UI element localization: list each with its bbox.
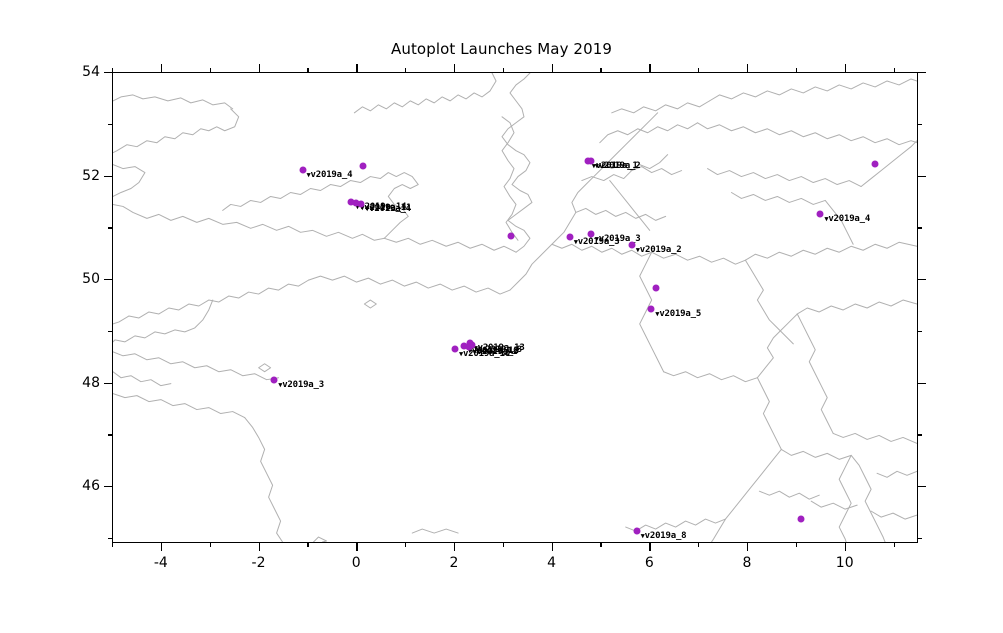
y-tick-major bbox=[918, 279, 926, 280]
data-point[interactable] bbox=[299, 167, 306, 174]
label-marker-icon: ▼ bbox=[365, 205, 369, 213]
x-tick-label: 10 bbox=[836, 555, 854, 571]
y-tick-major bbox=[104, 72, 112, 73]
x-tick-major bbox=[845, 543, 846, 551]
y-tick-major bbox=[918, 383, 926, 384]
chart-title: Autoplot Launches May 2019 bbox=[0, 40, 1003, 58]
x-tick-label: 8 bbox=[743, 555, 752, 571]
x-tick-major bbox=[161, 543, 162, 551]
data-point-label: ▼v2019a_2 bbox=[636, 245, 682, 255]
y-tick-label: 54 bbox=[56, 64, 100, 80]
data-point[interactable] bbox=[451, 346, 458, 353]
y-tick-minor bbox=[918, 434, 922, 435]
x-tick-minor bbox=[503, 68, 504, 72]
y-tick-major bbox=[918, 486, 926, 487]
y-tick-label: 46 bbox=[56, 478, 100, 494]
y-tick-major bbox=[104, 279, 112, 280]
x-tick-minor bbox=[600, 68, 601, 72]
x-tick-major bbox=[649, 64, 650, 72]
x-tick-label: 4 bbox=[547, 555, 556, 571]
x-tick-minor bbox=[894, 543, 895, 547]
y-tick-major bbox=[104, 486, 112, 487]
label-marker-icon: ▼ bbox=[595, 235, 599, 243]
x-tick-minor bbox=[405, 543, 406, 547]
x-tick-minor bbox=[698, 68, 699, 72]
label-marker-icon: ▼ bbox=[459, 350, 463, 358]
y-tick-label: 50 bbox=[56, 271, 100, 287]
data-point-label: ▼v2019a_4 bbox=[824, 214, 870, 224]
data-point[interactable] bbox=[797, 516, 804, 523]
x-tick-minor bbox=[698, 543, 699, 547]
x-tick-label: 2 bbox=[449, 555, 458, 571]
x-tick-minor bbox=[796, 68, 797, 72]
data-point[interactable] bbox=[271, 376, 278, 383]
y-tick-major bbox=[104, 176, 112, 177]
y-tick-label: 48 bbox=[56, 375, 100, 391]
x-tick-major bbox=[845, 64, 846, 72]
label-marker-icon: ▼ bbox=[655, 310, 659, 318]
data-point[interactable] bbox=[653, 284, 660, 291]
data-point-label: ▼v2019a_8 bbox=[641, 531, 687, 541]
x-tick-minor bbox=[405, 68, 406, 72]
data-point[interactable] bbox=[587, 157, 594, 164]
x-tick-label: -2 bbox=[252, 555, 266, 571]
data-point[interactable] bbox=[648, 305, 655, 312]
x-tick-minor bbox=[307, 543, 308, 547]
y-tick-minor bbox=[108, 331, 112, 332]
data-point-label: ▼v2019a_5 bbox=[655, 309, 701, 319]
label-marker-icon: ▼ bbox=[824, 215, 828, 223]
x-tick-major bbox=[649, 543, 650, 551]
data-point-label: ▼v2019a_4 bbox=[307, 170, 353, 180]
y-tick-minor bbox=[108, 538, 112, 539]
x-tick-label: 0 bbox=[352, 555, 361, 571]
data-points-layer: ▼v2019a_4▼v2019a_14▼v2019a_11▼v2019a_4▼v… bbox=[113, 73, 917, 542]
data-point[interactable] bbox=[360, 163, 367, 170]
x-tick-major bbox=[747, 64, 748, 72]
data-point[interactable] bbox=[465, 344, 472, 351]
x-tick-major bbox=[356, 543, 357, 551]
x-tick-minor bbox=[503, 543, 504, 547]
figure-canvas: Autoplot Launches May 2019 bbox=[0, 0, 1003, 633]
data-point[interactable] bbox=[633, 528, 640, 535]
data-point[interactable] bbox=[817, 210, 824, 217]
y-tick-label: 52 bbox=[56, 168, 100, 184]
x-tick-major bbox=[454, 64, 455, 72]
x-tick-label: -4 bbox=[154, 555, 168, 571]
data-point[interactable] bbox=[358, 200, 365, 207]
data-point-label: ▼v2019a_3 bbox=[278, 380, 324, 390]
y-tick-major bbox=[918, 72, 926, 73]
label-marker-icon: ▼ bbox=[641, 532, 645, 540]
x-tick-major bbox=[259, 543, 260, 551]
y-tick-minor bbox=[108, 227, 112, 228]
data-point-label: ▼v2019a_2 bbox=[595, 161, 641, 171]
label-marker-icon: ▼ bbox=[574, 238, 578, 246]
data-point[interactable] bbox=[508, 233, 515, 240]
data-point[interactable] bbox=[587, 231, 594, 238]
x-tick-minor bbox=[796, 543, 797, 547]
y-tick-major bbox=[918, 176, 926, 177]
data-point[interactable] bbox=[872, 160, 879, 167]
x-tick-minor bbox=[210, 543, 211, 547]
x-tick-minor bbox=[307, 68, 308, 72]
plot-axes[interactable]: ▼v2019a_4▼v2019a_14▼v2019a_11▼v2019a_4▼v… bbox=[112, 72, 918, 543]
x-tick-minor bbox=[112, 68, 113, 72]
label-marker-icon: ▼ bbox=[278, 381, 282, 389]
y-tick-minor bbox=[918, 124, 922, 125]
y-tick-minor bbox=[108, 124, 112, 125]
label-marker-icon: ▼ bbox=[473, 348, 477, 356]
label-marker-icon: ▼ bbox=[636, 246, 640, 254]
x-tick-major bbox=[356, 64, 357, 72]
x-tick-minor bbox=[600, 543, 601, 547]
x-tick-major bbox=[552, 64, 553, 72]
label-marker-icon: ▼ bbox=[307, 171, 311, 179]
x-tick-minor bbox=[112, 543, 113, 547]
y-tick-minor bbox=[108, 434, 112, 435]
data-point-label: ▼v2019a_9 bbox=[473, 347, 519, 357]
data-point[interactable] bbox=[628, 241, 635, 248]
data-point-label: ▼v2019a_4 bbox=[365, 204, 411, 214]
x-tick-major bbox=[454, 543, 455, 551]
y-tick-minor bbox=[918, 227, 922, 228]
label-marker-icon: ▼ bbox=[595, 162, 599, 170]
x-tick-minor bbox=[894, 68, 895, 72]
x-tick-label: 6 bbox=[645, 555, 654, 571]
y-tick-major bbox=[104, 383, 112, 384]
x-tick-major bbox=[747, 543, 748, 551]
y-tick-minor bbox=[918, 538, 922, 539]
y-tick-minor bbox=[918, 331, 922, 332]
x-tick-major bbox=[161, 64, 162, 72]
x-tick-minor bbox=[210, 68, 211, 72]
x-tick-major bbox=[259, 64, 260, 72]
data-point[interactable] bbox=[566, 234, 573, 241]
x-tick-major bbox=[552, 543, 553, 551]
